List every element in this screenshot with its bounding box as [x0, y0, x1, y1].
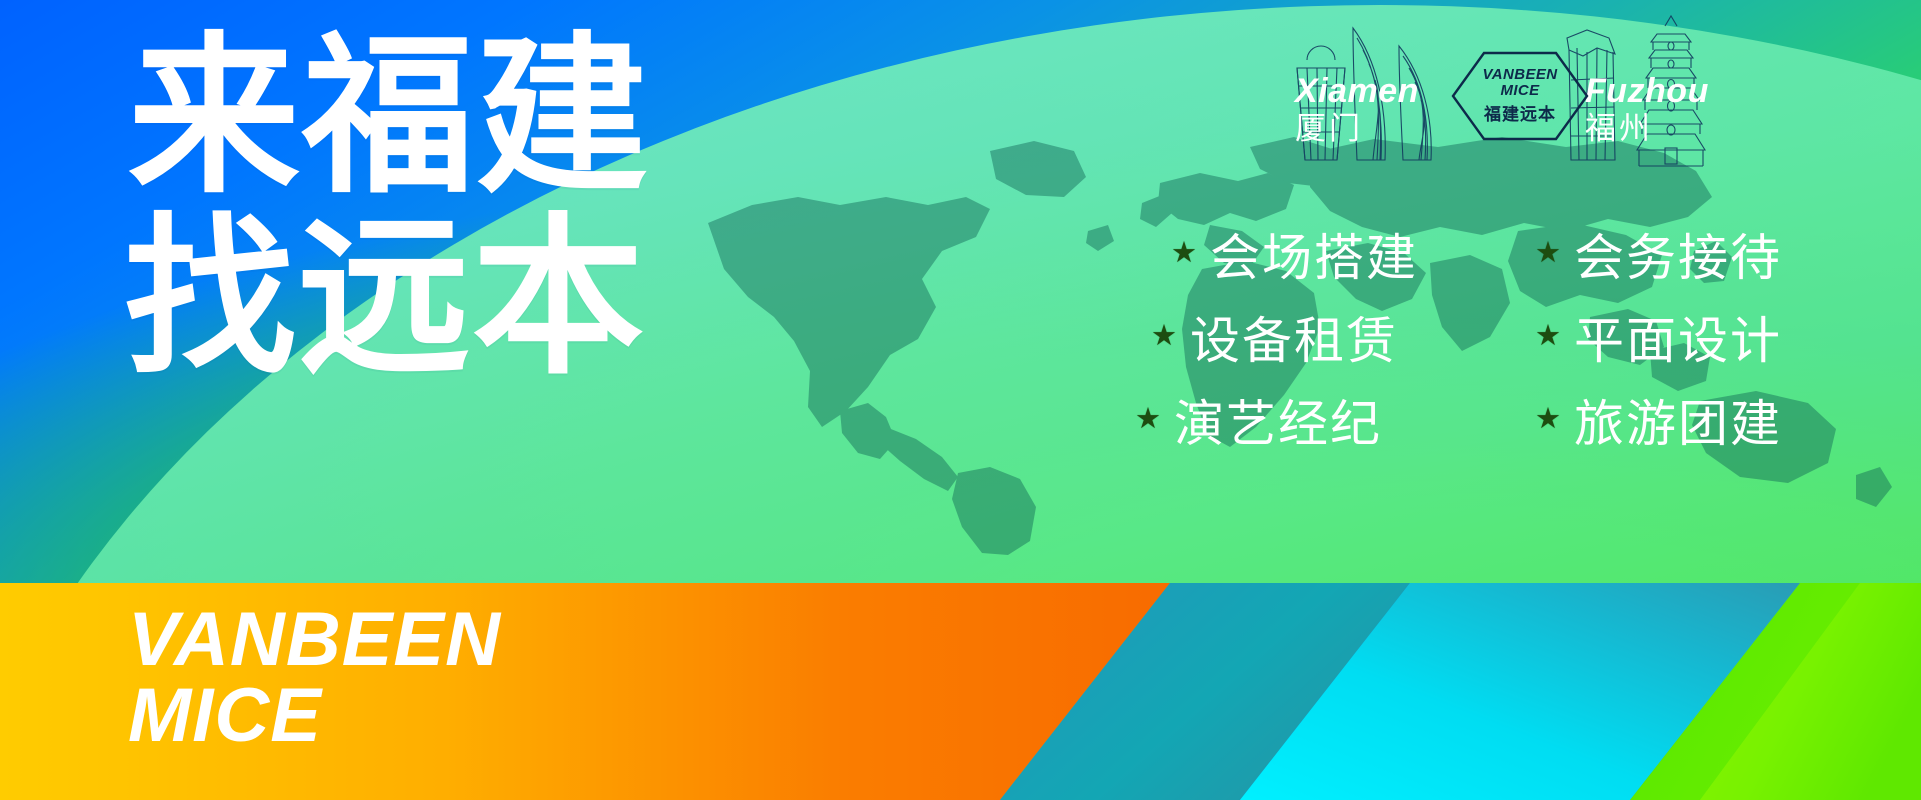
service-item: ★ 旅游团建: [1535, 384, 1782, 456]
star-icon: ★: [1535, 405, 1561, 434]
star-icon: ★: [1535, 239, 1561, 268]
promotional-banner: 来福建 找远本: [0, 0, 1921, 800]
star-icon: ★: [1151, 322, 1177, 351]
service-item: ★ 平面设计: [1535, 301, 1782, 373]
hex-logo-line-1: VANBEEN: [1482, 67, 1557, 83]
brand-line-2: MICE: [128, 680, 501, 752]
service-item: ★ 设备租赁: [1135, 301, 1535, 373]
headline-line-2: 找远本: [124, 215, 748, 382]
service-row: ★ 演艺经纪 ★ 旅游团建: [1135, 378, 1895, 461]
service-row: ★ 设备租赁 ★ 平面设计: [1135, 295, 1895, 378]
hex-logo-line-2: MICE: [1500, 83, 1539, 99]
city-name-en: Xiamen: [1295, 74, 1419, 108]
city-label-fuzhou: Fuzhou 福州: [1585, 74, 1709, 144]
brand-line-1: VANBEEN: [128, 604, 501, 676]
service-list: ★ 会场搭建 ★ 会务接待 ★ 设备租赁 ★ 平面设计: [1135, 212, 1895, 461]
service-label: 会务接待: [1574, 218, 1782, 290]
city-label-xiamen: Xiamen 厦门: [1295, 74, 1419, 144]
service-item: ★ 演艺经纪: [1135, 384, 1535, 456]
hex-logo-line-3: 福建远本: [1484, 100, 1556, 125]
city-name-cn: 厦门: [1295, 113, 1419, 144]
vanbeen-hex-logo: VANBEEN MICE 福建远本: [1450, 50, 1590, 142]
headline-line-1: 来福建: [128, 34, 748, 201]
service-item: ★ 会务接待: [1535, 218, 1782, 290]
service-label: 设备租赁: [1190, 301, 1398, 373]
city-name-en: Fuzhou: [1585, 74, 1709, 108]
service-label: 旅游团建: [1574, 384, 1782, 456]
city-strip: Xiamen 厦门 Fuzhou 福州 VANBEEN MICE 福建远本: [1295, 0, 1725, 185]
city-name-cn: 福州: [1585, 113, 1709, 144]
service-label: 演艺经纪: [1174, 384, 1382, 456]
brand-wordmark: VANBEEN MICE: [128, 604, 501, 752]
service-label: 会场搭建: [1210, 218, 1418, 290]
brand-band: VANBEEN MICE: [0, 583, 1921, 800]
star-icon: ★: [1535, 322, 1561, 351]
service-label: 平面设计: [1574, 301, 1782, 373]
star-icon: ★: [1135, 405, 1161, 434]
banner-stage: 来福建 找远本: [0, 0, 1921, 583]
star-icon: ★: [1171, 239, 1197, 268]
service-item: ★ 会场搭建: [1135, 218, 1535, 290]
headline: 来福建 找远本: [128, 34, 748, 382]
service-row: ★ 会场搭建 ★ 会务接待: [1135, 212, 1895, 295]
